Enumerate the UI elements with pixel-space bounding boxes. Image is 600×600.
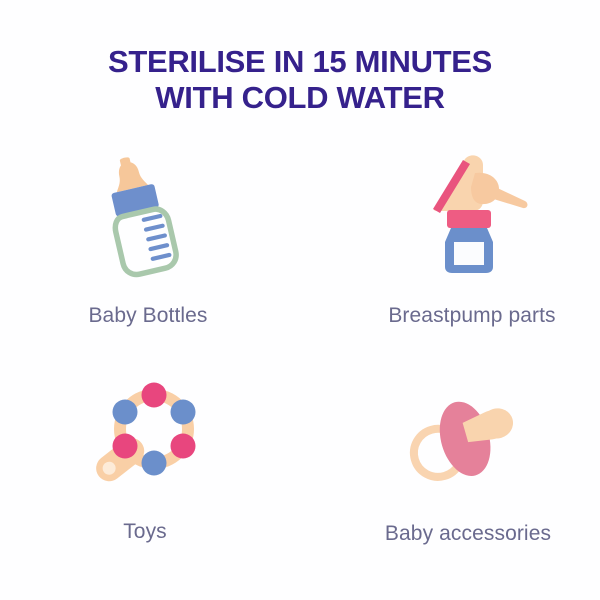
sterilise-poster: STERILISE IN 15 MINUTES WITH COLD WATER xyxy=(0,0,600,600)
category-label-baby-accessories: Baby accessories xyxy=(385,522,551,546)
category-item-toys: Toys xyxy=(0,360,300,570)
rattle-toy-icon xyxy=(80,372,210,492)
category-label-baby-bottles: Baby Bottles xyxy=(88,304,207,328)
category-item-baby-accessories: Baby accessories xyxy=(300,360,600,570)
page-title-line-1: STERILISE IN 15 MINUTES xyxy=(0,44,600,80)
category-item-breastpump-parts: Breastpump parts xyxy=(300,150,600,360)
baby-bottle-icon xyxy=(91,156,203,276)
pacifier-icon xyxy=(405,378,531,498)
category-item-baby-bottles: Baby Bottles xyxy=(0,150,300,360)
page-title: STERILISE IN 15 MINUTES WITH COLD WATER xyxy=(0,44,600,116)
category-label-toys: Toys xyxy=(123,520,167,544)
category-grid: Baby Bottles xyxy=(0,150,600,570)
breastpump-icon xyxy=(413,156,531,276)
category-label-breastpump-parts: Breastpump parts xyxy=(388,304,555,328)
page-title-line-2: WITH COLD WATER xyxy=(0,80,600,116)
